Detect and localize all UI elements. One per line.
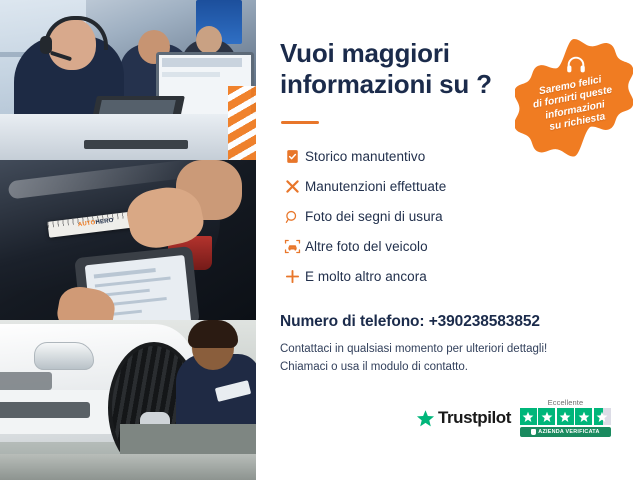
contact-note-line-2: Chiamaci o usa il modulo di contatto. [280,359,630,377]
logo-hero: HERO [95,218,114,226]
car-photo-scan-icon [279,236,305,258]
photo-mechanic-tyre [0,320,256,480]
trustpilot-rating: Eccellente AZIENDA VERIFICATA [520,398,611,437]
headset-icon [565,54,587,76]
front-desk [0,114,256,160]
contact-note-line-1: Contattaci in qualsiasi momento per ulte… [280,341,630,359]
tablet-line [95,277,171,288]
shield-check-icon [531,429,536,435]
photo-call-center [0,0,256,160]
photo-column: AUTOHERO [0,0,256,480]
verified-company-badge: AZIENDA VERIFICATA [520,427,611,437]
star-filled [538,408,555,425]
verified-label: AZIENDA VERIFICATA [538,429,599,435]
list-item-label: Manutenzioni effettuate [305,179,446,194]
title-divider [281,121,319,124]
magnifier-icon [279,206,305,228]
callout-badge: Saremo felici di fornirti queste informa… [515,36,633,160]
list-item-label: Foto dei segni di usura [305,209,443,224]
list-item-label: E molto altro ancora [305,269,427,284]
feature-list: Storico manutentivo Manutenzioni effettu… [279,142,609,292]
list-item: Altre foto del veicolo [279,232,609,261]
trustpilot-logo: Trustpilot [416,408,511,428]
list-item: E molto altro ancora [279,262,609,291]
trustpilot-widget[interactable]: Trustpilot Eccellente AZIENDA VERIFICATA [416,398,611,437]
car-upper-grille [0,372,52,390]
laptop-keyboard [84,140,188,149]
rating-label: Eccellente [520,398,611,407]
mechanic-hair [188,320,238,348]
list-item-label: Altre foto del veicolo [305,239,428,254]
monitor-content-bar-two [162,72,220,77]
tablet-line [94,268,156,278]
content-panel: Vuoi maggiori informazioni su ? Storico … [256,0,640,480]
list-item-label: Storico manutentivo [305,149,425,164]
tool-cabinet [120,424,256,454]
plus-icon [279,266,305,288]
car-headlight [34,342,94,370]
photo-autohero-inspection: AUTOHERO [0,160,256,320]
checklist-document-icon [279,146,305,168]
wrench-tools-icon [279,176,305,198]
star-filled [575,408,592,425]
car-lower-grille [0,402,90,418]
car-lift-platform [0,454,256,480]
star-filled [557,408,574,425]
orange-banner-stand [228,86,256,160]
monitor-content-bar [162,58,242,67]
list-item: Foto dei segni di usura [279,202,609,231]
autohero-info-banner: AUTOHERO [0,0,640,480]
star-partial [594,408,611,425]
trustpilot-star-icon [416,409,435,428]
agent-three-head [196,26,222,54]
contact-note: Contattaci in qualsiasi momento per ulte… [280,341,630,377]
star-filled [520,408,537,425]
phone-number[interactable]: Numero di telefono: +390238583852 [280,313,540,331]
list-item: Manutenzioni effettuate [279,172,609,201]
trustpilot-wordmark: Trustpilot [438,408,511,428]
star-rating [520,408,611,425]
logo-auto: AUTO [78,220,96,228]
